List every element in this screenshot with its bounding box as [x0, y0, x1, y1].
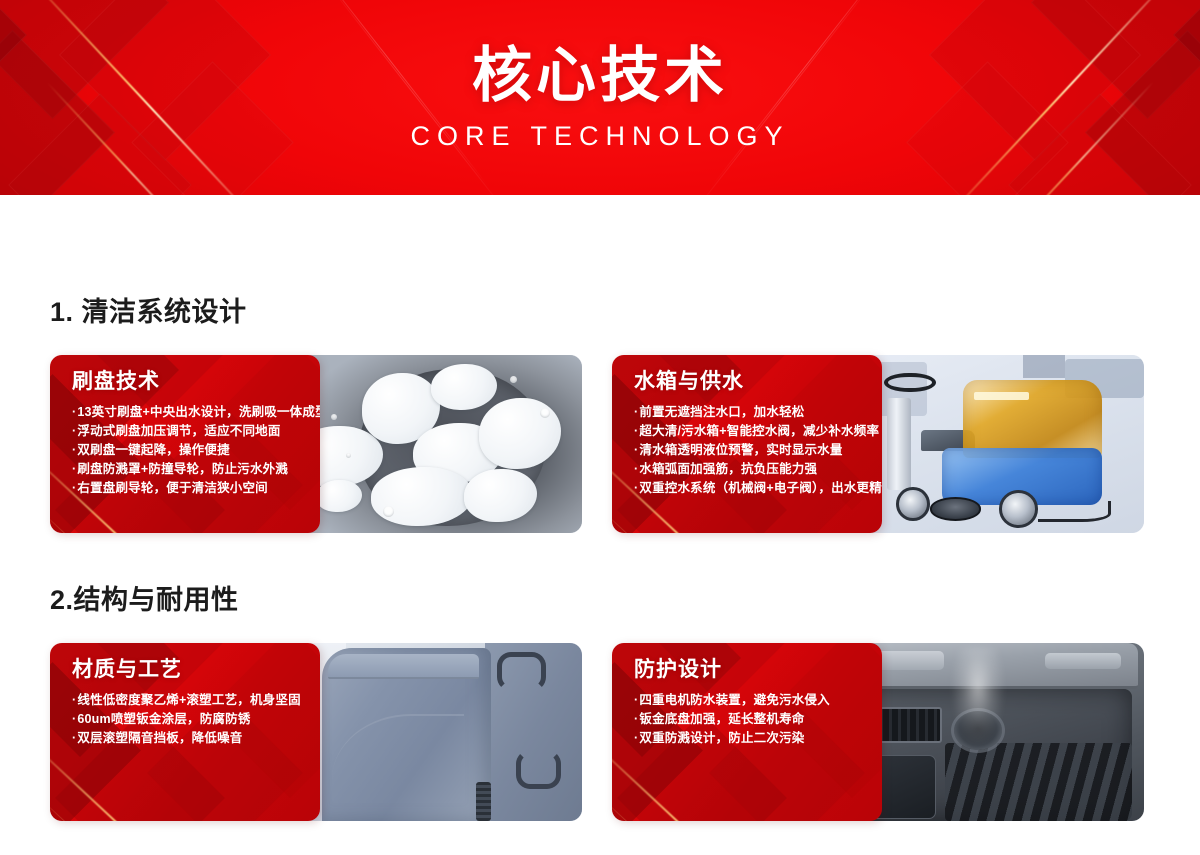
list-item: 线性低密度聚乙烯+滚塑工艺，机身坚固: [72, 691, 320, 710]
list-item: 清水箱透明液位预警，实时显示水量: [634, 441, 882, 460]
feature-card-material-craft[interactable]: 材质与工艺 线性低密度聚乙烯+滚塑工艺，机身坚固 60um喷塑钣金涂层，防腐防锈…: [50, 643, 582, 821]
section-2-card-row: 材质与工艺 线性低密度聚乙烯+滚塑工艺，机身坚固 60um喷塑钣金涂层，防腐防锈…: [0, 643, 1200, 823]
feature-card-protection-design[interactable]: 防护设计 四重电机防水装置，避免污水侵入 钣金底盘加强，延长整机寿命 双重防溅设…: [612, 643, 1144, 821]
feature-card-brush-technology[interactable]: 刷盘技术 13英寸刷盘+中央出水设计，洗刷吸一体成型 浮动式刷盘加压调节，适应不…: [50, 355, 582, 533]
card-feature-list: 13英寸刷盘+中央出水设计，洗刷吸一体成型 浮动式刷盘加压调节，适应不同地面 双…: [72, 403, 320, 498]
card-title: 材质与工艺: [72, 657, 320, 682]
brush-disc-foam-photo: [280, 355, 582, 533]
list-item: 四重电机防水装置，避免污水侵入: [634, 691, 882, 710]
list-item: 双层滚塑隔音挡板，降低噪音: [72, 729, 320, 748]
card-feature-list: 前置无遮挡注水口，加水轻松 超大清/污水箱+智能控水阀，减少补水频率 清水箱透明…: [634, 403, 882, 498]
list-item: 浮动式刷盘加压调节，适应不同地面: [72, 422, 320, 441]
list-item: 双刷盘一键起降，操作便捷: [72, 441, 320, 460]
section-heading-1: 1. 清洁系统设计: [50, 290, 247, 329]
card-title: 水箱与供水: [634, 369, 882, 394]
card-feature-list: 线性低密度聚乙烯+滚塑工艺，机身坚固 60um喷塑钣金涂层，防腐防锈 双层滚塑隔…: [72, 691, 320, 748]
list-item: 双重控水系统（机械阀+电子阀），出水更精准: [634, 479, 882, 498]
page-header-banner: 核心技术 CORE TECHNOLOGY: [0, 0, 1200, 195]
list-item: 13英寸刷盘+中央出水设计，洗刷吸一体成型: [72, 403, 320, 422]
list-item: 60um喷塑钣金涂层，防腐防锈: [72, 710, 320, 729]
list-item: 刷盘防溅罩+防撞导轮，防止污水外溅: [72, 460, 320, 479]
water-spray-icon: [951, 647, 1005, 747]
card-title: 刷盘技术: [72, 369, 320, 394]
card-red-panel: 防护设计 四重电机防水装置，避免污水侵入 钣金底盘加强，延长整机寿命 双重防溅设…: [612, 643, 882, 821]
section-1-card-row: 刷盘技术 13英寸刷盘+中央出水设计，洗刷吸一体成型 浮动式刷盘加压调节，适应不…: [0, 355, 1200, 535]
feature-card-water-tank[interactable]: 水箱与供水 前置无遮挡注水口，加水轻松 超大清/污水箱+智能控水阀，减少补水频率…: [612, 355, 1144, 533]
list-item: 水箱弧面加强筋，抗负压能力强: [634, 460, 882, 479]
list-item: 钣金底盘加强，延长整机寿命: [634, 710, 882, 729]
card-red-panel: 材质与工艺 线性低密度聚乙烯+滚塑工艺，机身坚固 60um喷塑钣金涂层，防腐防锈…: [50, 643, 320, 821]
core-technology-page: 核心技术 CORE TECHNOLOGY 1. 清洁系统设计: [0, 0, 1200, 855]
list-item: 双重防溅设计，防止二次污染: [634, 729, 882, 748]
list-item: 右置盘刷导轮，便于清洁狭小空间: [72, 479, 320, 498]
section-heading-2: 2.结构与耐用性: [50, 578, 239, 617]
transparent-scrubber-machine-photo: [842, 355, 1144, 533]
card-title: 防护设计: [634, 657, 882, 682]
list-item: 超大清/污水箱+智能控水阀，减少补水频率: [634, 422, 882, 441]
banner-text-block: 核心技术 CORE TECHNOLOGY: [0, 0, 1200, 195]
page-subtitle: CORE TECHNOLOGY: [410, 121, 789, 152]
machine-interior-waterproof-photo: [842, 643, 1144, 821]
list-item: 前置无遮挡注水口，加水轻松: [634, 403, 882, 422]
card-red-panel: 刷盘技术 13英寸刷盘+中央出水设计，洗刷吸一体成型 浮动式刷盘加压调节，适应不…: [50, 355, 320, 533]
machine-body-closeup-photo: [280, 643, 582, 821]
card-feature-list: 四重电机防水装置，避免污水侵入 钣金底盘加强，延长整机寿命 双重防溅设计，防止二…: [634, 691, 882, 748]
card-red-panel: 水箱与供水 前置无遮挡注水口，加水轻松 超大清/污水箱+智能控水阀，减少补水频率…: [612, 355, 882, 533]
page-title: 核心技术: [472, 44, 728, 107]
